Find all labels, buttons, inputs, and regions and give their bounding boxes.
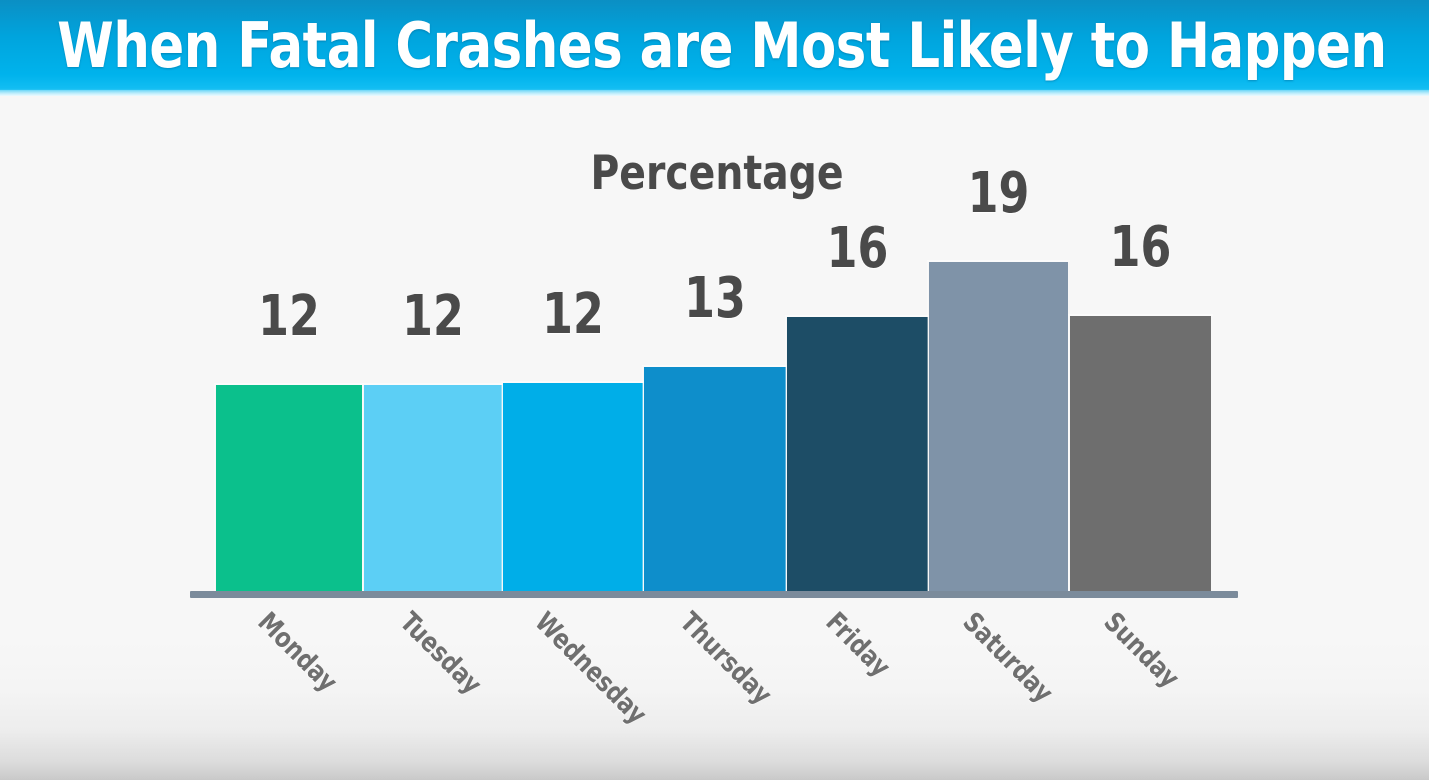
bar-value-monday: 12	[225, 289, 353, 345]
category-label-tuesday: Tuesday	[395, 608, 486, 699]
category-label-saturday: Saturday	[958, 608, 1057, 707]
plot-region: 12 Monday 12 Tuesday 12 Wednesday 13 Thu…	[0, 96, 1429, 780]
bar-value-thursday: 13	[653, 271, 778, 327]
axis-baseline	[190, 591, 1238, 598]
bar-sunday[interactable]	[1070, 316, 1211, 592]
category-label-friday: Friday	[821, 608, 895, 682]
bar-friday[interactable]	[787, 317, 928, 592]
bar-value-friday: 16	[795, 221, 919, 277]
category-label-monday: Monday	[253, 608, 342, 697]
bar-wednesday[interactable]	[503, 383, 643, 592]
bar-thursday[interactable]	[644, 367, 786, 592]
bar-monday[interactable]	[216, 385, 362, 592]
bar-tuesday[interactable]	[364, 385, 502, 592]
category-label-sunday: Sunday	[1099, 608, 1184, 693]
category-label-wednesday: Wednesday	[530, 608, 651, 729]
category-label-thursday: Thursday	[675, 608, 776, 709]
infographic-page: When Fatal Crashes are Most Likely to Ha…	[0, 0, 1429, 780]
bar-value-saturday: 19	[937, 166, 1059, 222]
bar-value-sunday: 16	[1078, 220, 1202, 276]
bar-value-tuesday: 12	[372, 289, 493, 345]
title-banner: When Fatal Crashes are Most Likely to Ha…	[0, 0, 1429, 96]
bar-saturday[interactable]	[929, 262, 1068, 592]
bar-chart: Percentage 12 Monday 12 Tuesday 12 Wedne…	[0, 96, 1429, 780]
bar-value-wednesday: 12	[511, 287, 634, 343]
page-title: When Fatal Crashes are Most Likely to Ha…	[57, 0, 1372, 92]
